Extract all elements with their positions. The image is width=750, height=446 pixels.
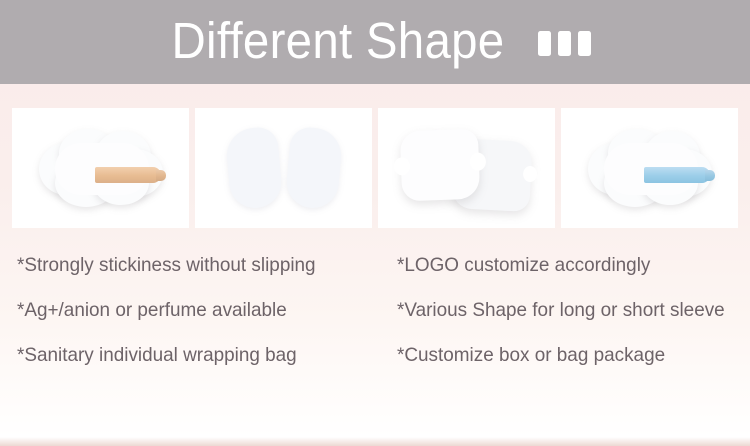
product-image-gallery: [12, 108, 738, 228]
product-image-overlapping-pads: [378, 108, 555, 228]
bar-1: [538, 31, 551, 56]
product-panel-4: [561, 108, 738, 228]
overlapping-pads-shape: [401, 126, 533, 210]
three-bars-icon: [538, 31, 591, 56]
feature-list-right: *LOGO customize accordingly *Various Sha…: [397, 243, 750, 378]
pad-notch: [469, 152, 486, 171]
adhesive-strip-tan: [95, 167, 161, 183]
bar-3: [578, 31, 591, 56]
feature-item: *LOGO customize accordingly: [397, 243, 739, 288]
promo-banner: Different Shape: [0, 0, 750, 446]
feature-item: *Sanitary individual wrapping bag: [17, 333, 386, 378]
page-title: Different Shape: [171, 15, 504, 66]
pad-front: [399, 129, 479, 202]
header-content: Different Shape: [159, 15, 592, 66]
bar-2: [558, 31, 571, 56]
butterfly-pad-shape: [228, 128, 340, 208]
product-image-cloud-tan: [12, 108, 189, 228]
feature-list-left: *Strongly stickiness without slipping *A…: [0, 243, 397, 378]
feature-item: *Various Shape for long or short sleeve: [397, 288, 739, 333]
product-image-cloud-blue: [561, 108, 738, 228]
banner-header: Different Shape: [0, 0, 750, 84]
pad-wing-right: [284, 126, 343, 210]
feature-item: *Strongly stickiness without slipping: [17, 243, 386, 288]
pad-notch: [393, 157, 410, 176]
feature-lists: *Strongly stickiness without slipping *A…: [0, 243, 750, 378]
product-panel-3: [378, 108, 555, 228]
cloud-pad-shape: [588, 129, 712, 207]
cloud-pad-shape: [39, 129, 163, 207]
feature-item: *Ag+/anion or perfume available: [17, 288, 386, 333]
adhesive-strip-blue: [644, 167, 710, 183]
pad-wing-left: [224, 126, 283, 210]
product-panel-1: [12, 108, 189, 228]
pad-notch: [522, 166, 537, 183]
feature-item: *Customize box or bag package: [397, 333, 739, 378]
product-image-butterfly: [195, 108, 372, 228]
product-panel-2: [195, 108, 372, 228]
